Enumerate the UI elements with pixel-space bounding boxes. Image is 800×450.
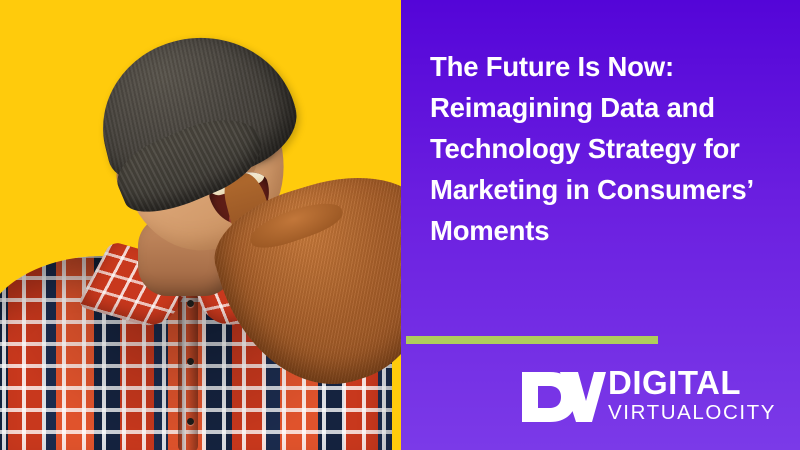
headline: The Future Is Now: Reimagining Data and … (430, 46, 778, 251)
brand-name-secondary: VIRTUALOCITY (608, 401, 786, 425)
shirt-button (187, 300, 194, 307)
head (93, 39, 307, 271)
shirt-button (187, 358, 194, 365)
photo-subject (0, 0, 401, 450)
brand-name-primary: DIGITAL (608, 366, 786, 400)
marketing-banner: The Future Is Now: Reimagining Data and … (0, 0, 800, 450)
brand-logo: DIGITAL VIRTUALOCITY (520, 366, 786, 428)
shirt-button (187, 418, 194, 425)
hero-photo-panel (0, 0, 401, 450)
content-panel: The Future Is Now: Reimagining Data and … (401, 0, 800, 450)
dv-monogram-icon (520, 368, 606, 426)
brand-wordmark: DIGITAL VIRTUALOCITY (608, 366, 786, 425)
accent-divider (406, 336, 658, 344)
